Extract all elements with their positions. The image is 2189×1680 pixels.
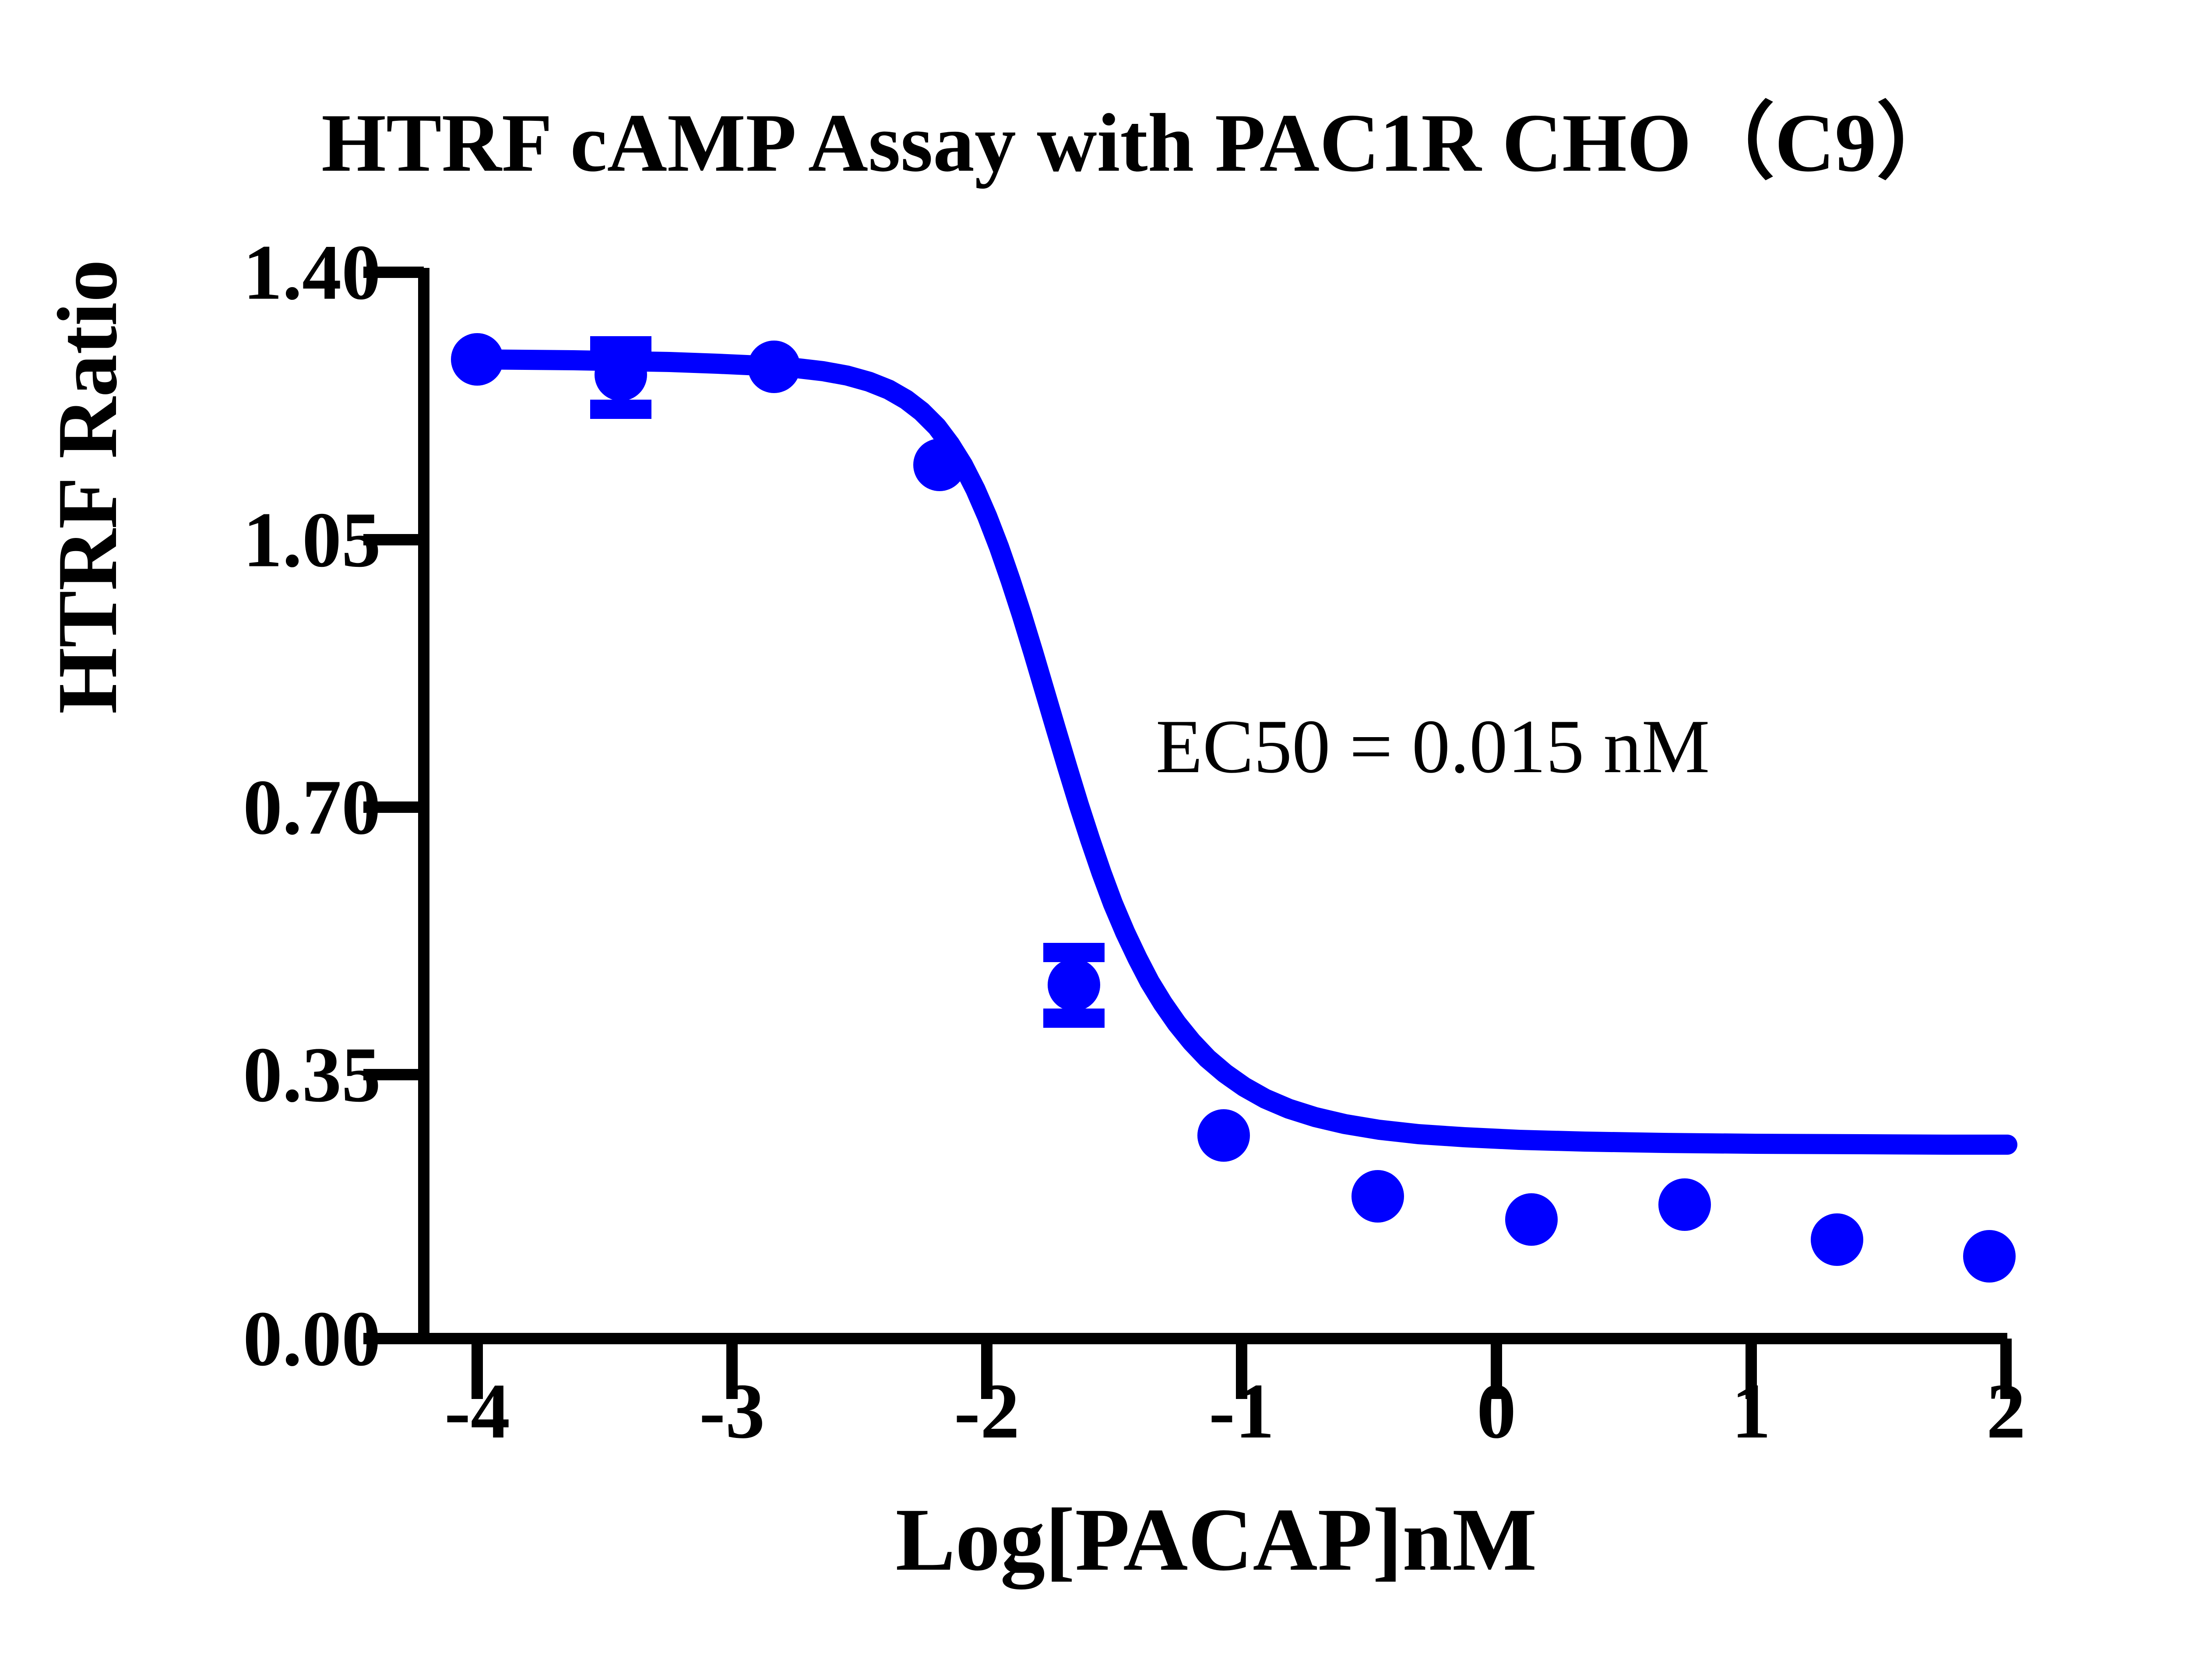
y-tick-label: 1.40 [166, 227, 381, 318]
x-tick-label: -3 [699, 1366, 765, 1456]
x-tick-label: 0 [1477, 1366, 1516, 1456]
data-point [595, 348, 647, 401]
y-tick-label: 0.70 [166, 762, 381, 853]
ec50-annotation: EC50 = 0.015 nM [1156, 703, 1710, 791]
y-tick-label: 1.05 [166, 495, 381, 585]
error-bars [590, 346, 1105, 1018]
data-point [1963, 1230, 2016, 1283]
data-point [1351, 1170, 1404, 1223]
x-tick-label: -1 [1209, 1366, 1274, 1456]
data-point [1197, 1109, 1250, 1162]
data-point [1048, 959, 1100, 1011]
x-tick-label: -2 [954, 1366, 1020, 1456]
data-point [1658, 1178, 1711, 1231]
y-axis-title: HTRF Ratio [39, 93, 137, 881]
data-point [748, 341, 800, 393]
x-tick-label: 1 [1731, 1366, 1771, 1456]
figure-canvas: HTRF cAMP Assay with PAC1R CHO（C9） [0, 0, 2189, 1680]
y-tick-label: 0.35 [166, 1030, 381, 1120]
data-point [1811, 1213, 1863, 1266]
x-axis-tick-labels: -4 -3 -2 -1 0 1 2 [0, 1366, 2189, 1497]
data-point [913, 439, 966, 491]
x-tick-label: -4 [444, 1366, 510, 1456]
x-tick-label: 2 [1986, 1366, 2026, 1456]
data-point [1505, 1193, 1558, 1246]
x-axis-title: Log[PACAP]nM [424, 1488, 2009, 1592]
data-point [451, 333, 503, 386]
